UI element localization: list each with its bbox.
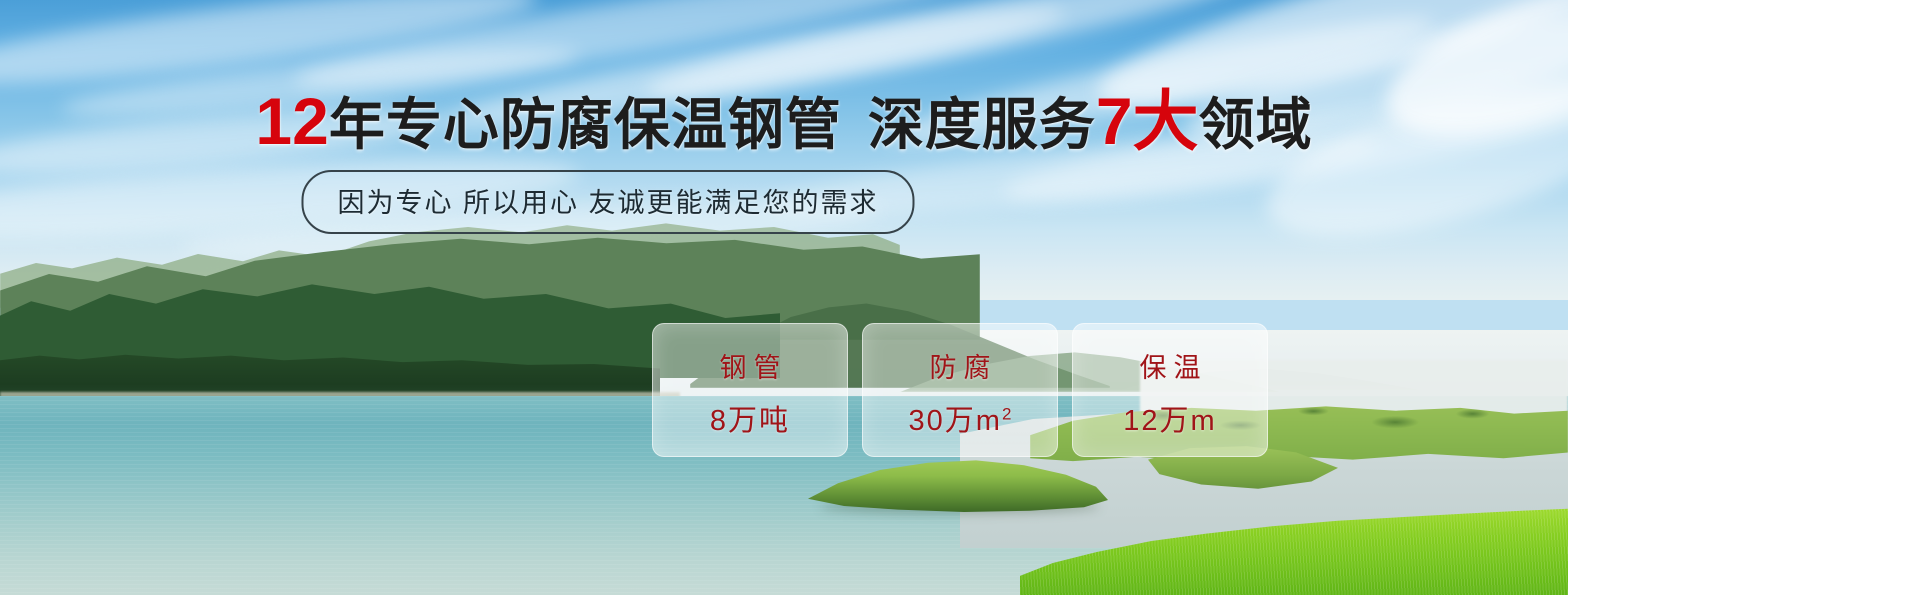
stat-card-value-text: 12万m — [1123, 405, 1216, 437]
stat-card-value: 8万吨 — [710, 397, 790, 439]
headline-years: 12 — [255, 84, 328, 158]
stat-card-title: 防腐 — [923, 346, 998, 385]
stat-card-value: 30万m2 — [909, 397, 1012, 439]
headline-fields: 领域 — [1199, 93, 1313, 156]
stat-card-title: 钢管 — [713, 346, 788, 385]
stat-card-value-text: 30万m — [909, 405, 1002, 437]
landscape-scene: 12年专心防腐保温钢管深度服务7大领域 因为专心 所以用心 友诚更能满足您的需求… — [0, 0, 1568, 595]
headline-years-tail: 年专心防腐保温钢管 — [329, 93, 842, 156]
headline: 12年专心防腐保温钢管深度服务7大领域 — [0, 88, 1568, 154]
hero-banner: 12年专心防腐保温钢管深度服务7大领域 因为专心 所以用心 友诚更能满足您的需求… — [0, 0, 1920, 595]
stat-card-title: 保温 — [1133, 346, 1208, 385]
right-padding — [1568, 0, 1920, 595]
stat-card-value: 12万m — [1123, 397, 1216, 439]
headline-seven: 7大 — [1096, 84, 1199, 158]
subtitle-pill: 因为专心 所以用心 友诚更能满足您的需求 — [301, 170, 914, 234]
stat-card-steel-pipe[interactable]: 钢管 8万吨 — [652, 323, 848, 457]
headline-service: 深度服务 — [868, 93, 1096, 156]
stat-card-insulation[interactable]: 保温 12万m — [1072, 323, 1268, 457]
stat-card-value-sup: 2 — [1002, 404, 1011, 423]
stat-card-group: 钢管 8万吨 防腐 30万m2 保温 12万m — [652, 323, 1268, 457]
stat-card-value-text: 8万吨 — [710, 405, 790, 437]
stat-card-anticorrosion[interactable]: 防腐 30万m2 — [862, 323, 1058, 457]
